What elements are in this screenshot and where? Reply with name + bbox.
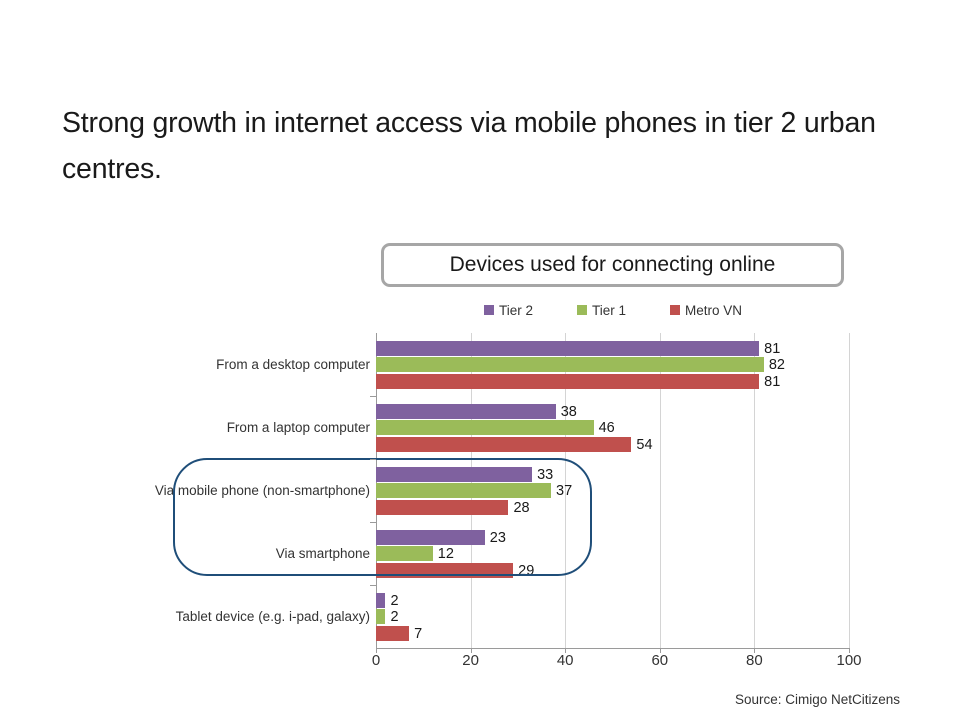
y-tick-mark [370, 585, 376, 586]
bar-value-label: 29 [518, 564, 534, 579]
bar-value-label: 81 [764, 375, 780, 390]
bar-value-label: 7 [414, 627, 422, 642]
bar[interactable] [376, 626, 409, 641]
category-label: Tablet device (e.g. i-pad, galaxy) [140, 608, 370, 625]
bar[interactable] [376, 341, 759, 356]
legend-label: Tier 2 [499, 303, 533, 318]
x-axis-line [376, 648, 850, 649]
plot-area: 818281384654333728231229227 [376, 333, 849, 648]
legend-item-tier-2[interactable]: Tier 2 [484, 303, 533, 318]
category-label: Via mobile phone (non-smartphone) [140, 482, 370, 499]
category-label: Via smartphone [140, 545, 370, 562]
x-tick-label: 80 [746, 652, 763, 669]
chart-legend: Tier 2Tier 1Metro VN [376, 300, 850, 320]
bar-value-label: 38 [561, 405, 577, 420]
bar-value-label: 2 [390, 594, 398, 609]
bar-value-label: 28 [513, 501, 529, 516]
bar-value-label: 54 [636, 438, 652, 453]
bar[interactable] [376, 357, 764, 372]
x-tick-mark [565, 648, 566, 653]
bar-value-label: 23 [490, 531, 506, 546]
legend-swatch-icon [484, 305, 494, 315]
category-axis-labels: From a desktop computerFrom a laptop com… [135, 333, 370, 648]
legend-label: Metro VN [685, 303, 742, 318]
y-tick-mark [370, 396, 376, 397]
x-tick-label: 60 [651, 652, 668, 669]
legend-item-tier-1[interactable]: Tier 1 [577, 303, 626, 318]
x-tick-mark [376, 648, 377, 653]
bar[interactable] [376, 437, 631, 452]
source-attribution: Source: Cimigo NetCitizens [735, 692, 900, 707]
category-label: From a desktop computer [140, 356, 370, 373]
bar[interactable] [376, 530, 485, 545]
legend-item-metro-vn[interactable]: Metro VN [670, 303, 742, 318]
bar[interactable] [376, 563, 513, 578]
bar-value-label: 33 [537, 468, 553, 483]
bar-chart: Devices used for connecting online Tier … [0, 0, 960, 720]
bar[interactable] [376, 420, 594, 435]
bar-value-label: 37 [556, 484, 572, 499]
bar[interactable] [376, 609, 385, 624]
x-tick-mark [754, 648, 755, 653]
chart-title-box: Devices used for connecting online [381, 243, 844, 287]
legend-swatch-icon [670, 305, 680, 315]
bar-value-label: 81 [764, 342, 780, 357]
x-tick-label: 40 [557, 652, 574, 669]
x-tick-mark [660, 648, 661, 653]
legend-label: Tier 1 [592, 303, 626, 318]
legend-swatch-icon [577, 305, 587, 315]
gridline [849, 333, 850, 648]
x-tick-label: 20 [462, 652, 479, 669]
bar[interactable] [376, 467, 532, 482]
bar[interactable] [376, 374, 759, 389]
bar[interactable] [376, 483, 551, 498]
x-tick-label: 0 [372, 652, 380, 669]
bar[interactable] [376, 546, 433, 561]
category-label: From a laptop computer [140, 419, 370, 436]
y-tick-mark [370, 459, 376, 460]
bar-value-label: 82 [769, 358, 785, 373]
bar-value-label: 2 [390, 610, 398, 625]
bar[interactable] [376, 593, 385, 608]
chart-title: Devices used for connecting online [450, 253, 776, 277]
x-axis-tick-labels: 020406080100 [376, 652, 850, 676]
x-tick-mark [471, 648, 472, 653]
bar[interactable] [376, 500, 508, 515]
bar-value-label: 46 [599, 421, 615, 436]
x-tick-mark [849, 648, 850, 653]
bar[interactable] [376, 404, 556, 419]
x-tick-label: 100 [836, 652, 861, 669]
y-tick-mark [370, 522, 376, 523]
bar-value-label: 12 [438, 547, 454, 562]
